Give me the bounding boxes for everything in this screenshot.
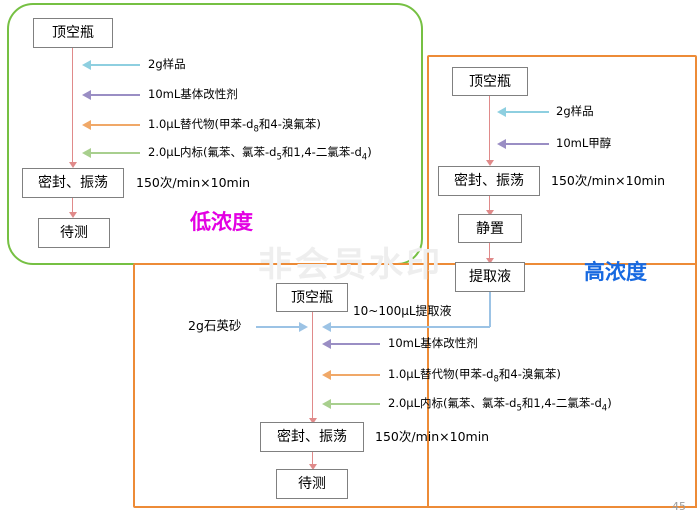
high-reagent-arrow-0 — [497, 105, 549, 119]
high-reagent-label-0: 2g样品 — [556, 106, 594, 118]
arrow-shaft — [330, 343, 380, 345]
arrow-shaft — [90, 152, 140, 154]
high-bottom-reagent-arrow-0 — [322, 337, 380, 351]
high-bottom-reagent-label-2: 2.0μL内标(氟苯、氯苯-d5和1,4-二氯苯-d4) — [388, 398, 612, 413]
extract-transfer-arrowhead — [322, 322, 331, 332]
high-bottom-shake-note: 150次/min×10min — [375, 431, 489, 444]
high-reagent-arrow-1 — [497, 137, 549, 151]
low-node-seal-shake[interactable]: 密封、振荡 — [22, 168, 124, 198]
high-node-extract-solution[interactable]: 提取液 — [455, 262, 525, 292]
low-node-headspace-vial[interactable]: 顶空瓶 — [33, 18, 113, 48]
high-trunk-line — [489, 96, 490, 162]
high-node-stand-still[interactable]: 静置 — [458, 214, 522, 243]
high-concentration-caption: 高浓度 — [584, 262, 647, 283]
high-bottom-reagent-arrow-1 — [322, 368, 380, 382]
arrow-shaft — [505, 143, 549, 145]
high-bottom-node-headspace-vial[interactable]: 顶空瓶 — [276, 283, 348, 312]
low-node-ready-for-analysis[interactable]: 待测 — [38, 218, 110, 248]
low-reagent-label-2: 1.0μL替代物(甲苯-d8和4-溴氟苯) — [148, 119, 321, 134]
arrow-shaft — [330, 374, 380, 376]
low-reagent-label-1: 10mL基体改性剂 — [148, 89, 238, 101]
low-reagent-arrow-0 — [82, 58, 140, 72]
arrow-shaft — [330, 403, 380, 405]
low-shake-note: 150次/min×10min — [136, 177, 250, 190]
low-trunk-line — [72, 48, 73, 164]
extract-transfer-horizontal — [330, 326, 490, 328]
quartz-sand-arrow — [256, 320, 308, 334]
high-bottom-trunk-line — [312, 312, 313, 420]
high-reagent-label-1: 10mL甲醇 — [556, 138, 611, 150]
high-bottom-node-seal-shake[interactable]: 密封、振荡 — [260, 422, 364, 452]
low-reagent-arrow-2 — [82, 118, 140, 132]
high-shake-note: 150次/min×10min — [551, 175, 665, 188]
arrow-shaft — [90, 94, 140, 96]
high-node-headspace-vial[interactable]: 顶空瓶 — [452, 67, 528, 96]
arrowhead-icon — [299, 322, 308, 332]
extract-transfer-label: 10~100μL提取液 — [353, 305, 452, 317]
watermark-text: 非会员水印 — [258, 237, 443, 286]
low-reagent-label-0: 2g样品 — [148, 59, 186, 71]
high-bottom-reagent-label-0: 10mL基体改性剂 — [388, 338, 478, 350]
low-reagent-arrow-1 — [82, 88, 140, 102]
low-reagent-label-3: 2.0μL内标(氟苯、氯苯-d5和1,4-二氯苯-d4) — [148, 147, 372, 162]
arrow-shaft — [90, 124, 140, 126]
flowchart-canvas: 非会员水印 顶空瓶 2g样品 10mL基体改性剂 1.0μL替代物(甲苯-d8和… — [0, 0, 700, 525]
quartz-sand-label: 2g石英砂 — [188, 320, 241, 333]
high-concentration-group-border-lower — [133, 263, 697, 508]
high-bottom-reagent-label-1: 1.0μL替代物(甲苯-d8和4-溴氟苯) — [388, 369, 561, 384]
low-concentration-caption: 低浓度 — [190, 212, 253, 233]
arrow-shaft — [256, 326, 300, 328]
low-reagent-arrow-3 — [82, 146, 140, 160]
extract-transfer-vertical — [489, 292, 491, 327]
arrow-shaft — [505, 111, 549, 113]
arrow-shaft — [90, 64, 140, 66]
page-number: 45 — [672, 500, 686, 513]
high-bottom-reagent-arrow-2 — [322, 397, 380, 411]
high-bottom-node-ready-for-analysis[interactable]: 待测 — [276, 469, 348, 499]
high-node-seal-shake[interactable]: 密封、振荡 — [438, 166, 540, 196]
